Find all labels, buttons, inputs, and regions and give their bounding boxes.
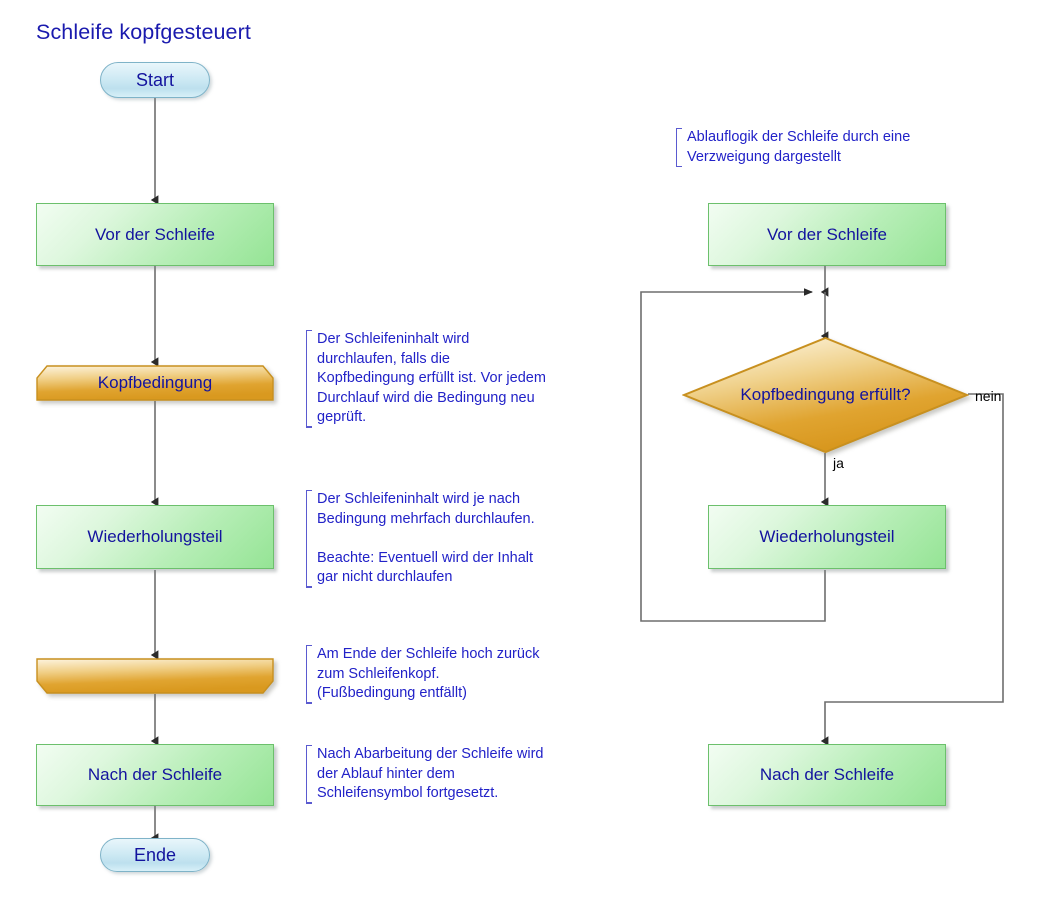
note-loop-head-line-5: geprüft. [317,408,596,428]
note-after-line-3: Schleifensymbol fortgesetzt. [317,784,596,804]
loop-foot-hexagon-icon [36,658,274,694]
node-vor-der-schleife[interactable]: Vor der Schleife [36,203,274,266]
node-decision-kopfbedingung[interactable]: Kopfbedingung erfüllt? [682,336,969,454]
node-ende[interactable]: Ende [100,838,210,872]
loop-head-hexagon-icon [36,365,274,401]
note-loop-head-line-1: Der Schleifeninhalt wird [317,330,596,350]
note-loop-head-line-2: durchlaufen, falls die [317,350,596,370]
note-loop-foot: Am Ende der Schleife hoch zurück zum Sch… [306,645,596,704]
node-kopfbedingung[interactable]: Kopfbedingung [36,365,274,401]
note-loop-head: Der Schleifeninhalt wird durchlaufen, fa… [306,330,596,428]
node-r-wiederholungsteil-label: Wiederholungsteil [759,527,894,547]
node-start-label: Start [136,70,174,91]
node-wiederholungsteil[interactable]: Wiederholungsteil [36,505,274,569]
note-body-line-1: Der Schleifeninhalt wird je nach [317,490,596,510]
node-nach-der-schleife[interactable]: Nach der Schleife [36,744,274,806]
flowchart-canvas: Schleife kopfgesteuert Start Vor der Sch… [0,0,1043,900]
note-after: Nach Abarbeitung der Schleife wird der A… [306,745,596,804]
note-right-top: Ablauflogik der Schleife durch eine Verz… [676,128,966,167]
node-r-nach-der-schleife-label: Nach der Schleife [760,765,894,785]
note-loop-head-line-4: Durchlauf wird die Bedingung neu [317,389,596,409]
node-r-vor-der-schleife[interactable]: Vor der Schleife [708,203,946,266]
edge-label-nein: nein [975,388,1001,404]
node-vor-der-schleife-label: Vor der Schleife [95,225,215,245]
note-loop-foot-line-1: Am Ende der Schleife hoch zurück [317,645,596,665]
note-after-line-1: Nach Abarbeitung der Schleife wird [317,745,596,765]
node-r-wiederholungsteil[interactable]: Wiederholungsteil [708,505,946,569]
node-wiederholungsteil-label: Wiederholungsteil [87,527,222,547]
note-loop-foot-line-3: (Fußbedingung entfällt) [317,684,596,704]
note-right-top-line-1: Ablauflogik der Schleife durch eine [687,128,966,148]
note-loop-head-line-3: Kopfbedingung erfüllt ist. Vor jedem [317,369,596,389]
note-right-top-line-2: Verzweigung dargestellt [687,148,966,168]
node-r-nach-der-schleife[interactable]: Nach der Schleife [708,744,946,806]
note-body-line-3: Beachte: Eventuell wird der Inhalt [317,549,596,569]
note-after-line-2: der Ablauf hinter dem [317,765,596,785]
page-title: Schleife kopfgesteuert [36,20,251,45]
node-r-vor-der-schleife-label: Vor der Schleife [767,225,887,245]
note-loop-foot-line-2: zum Schleifenkopf. [317,665,596,685]
note-body-line-4: gar nicht durchlaufen [317,568,596,588]
decision-diamond-icon [682,336,969,454]
note-body-blank-line [317,529,596,549]
node-start[interactable]: Start [100,62,210,98]
node-nach-der-schleife-label: Nach der Schleife [88,765,222,785]
node-loop-foot[interactable] [36,658,274,694]
edge-label-ja: ja [833,455,844,471]
note-body-line-2: Bedingung mehrfach durchlaufen. [317,510,596,530]
note-body: Der Schleifeninhalt wird je nach Bedingu… [306,490,596,588]
node-ende-label: Ende [134,845,176,866]
